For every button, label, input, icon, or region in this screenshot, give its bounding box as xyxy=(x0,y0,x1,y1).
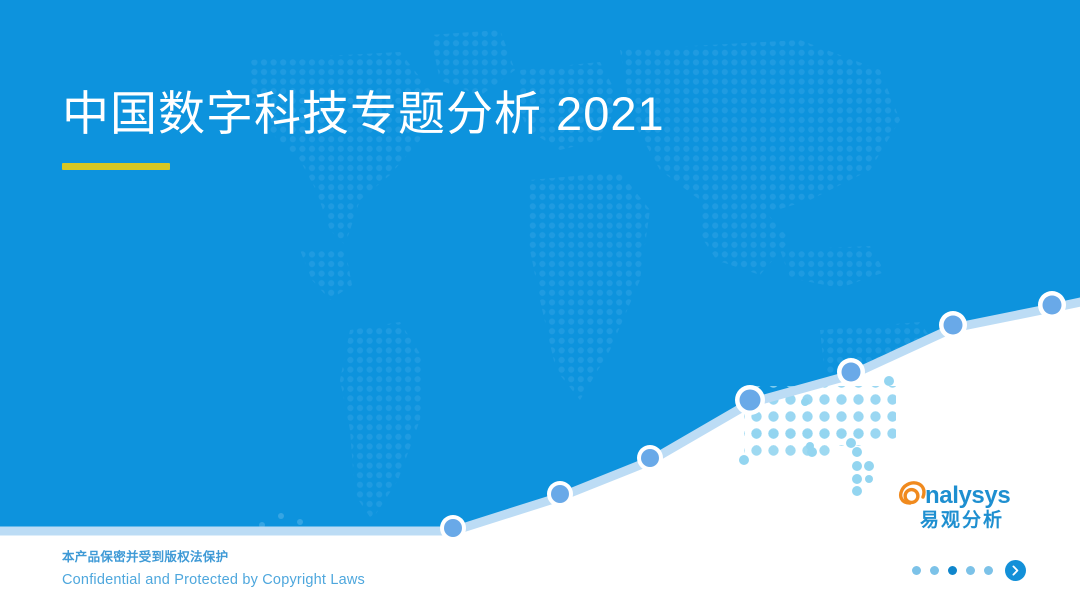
pager[interactable] xyxy=(912,560,1026,581)
analysys-logo-icon: nalysys xyxy=(898,476,1026,510)
title-block: 中国数字科技专题分析 2021 xyxy=(62,86,665,170)
page-title: 中国数字科技专题分析 2021 xyxy=(62,86,665,141)
analysys-wordmark: nalysys xyxy=(898,476,1026,510)
chart-marker xyxy=(440,515,466,541)
pager-dot-1[interactable] xyxy=(912,566,921,575)
chart-marker xyxy=(735,385,765,415)
chart-marker xyxy=(939,311,967,339)
brand-name-cn: 易观分析 xyxy=(898,511,1026,532)
chart-marker xyxy=(547,481,573,507)
chart-marker xyxy=(637,445,663,471)
chevron-right-icon xyxy=(1010,565,1021,576)
title-underline-rule xyxy=(62,163,170,170)
confidential-notice-cn: 本产品保密并受到版权法保护 xyxy=(62,548,365,567)
chart-marker xyxy=(837,358,865,386)
pager-dot-4[interactable] xyxy=(966,566,975,575)
next-slide-button[interactable] xyxy=(1005,560,1026,581)
svg-text:nalysys: nalysys xyxy=(925,482,1010,509)
report-cover-slide: 中国数字科技专题分析 2021 本产品保密并受到版权法保护 Confidenti… xyxy=(0,0,1080,608)
pager-dot-5[interactable] xyxy=(984,566,993,575)
pager-dot-3[interactable] xyxy=(948,566,957,575)
pager-dot-2[interactable] xyxy=(930,566,939,575)
confidential-notice-en: Confidential and Protected by Copyright … xyxy=(62,570,365,590)
brand-logo: nalysys 易观分析 xyxy=(898,476,1026,532)
chart-marker xyxy=(1038,291,1066,319)
confidential-notice: 本产品保密并受到版权法保护 Confidential and Protected… xyxy=(62,548,365,590)
